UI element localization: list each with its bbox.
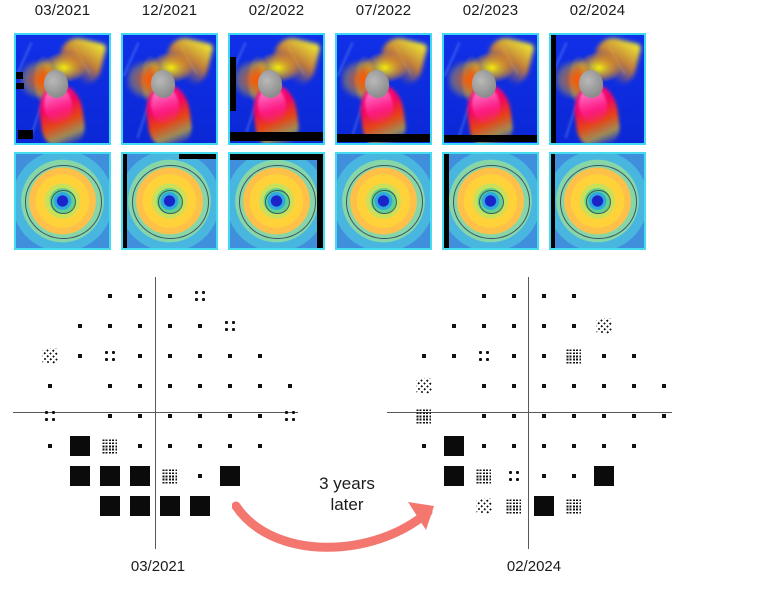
vf-vertical-axis <box>155 277 156 549</box>
vf-point-normal <box>482 324 486 328</box>
vf-point-normal <box>78 324 82 328</box>
vf-vertical-axis <box>528 277 529 549</box>
vf-point-normal <box>542 444 546 448</box>
rnfl-map-07-2022 <box>335 33 432 145</box>
vf-point-p5 <box>509 471 520 482</box>
vf-point-p2 <box>597 319 612 334</box>
vf-date-label-2021: 03/2021 <box>68 558 248 575</box>
vf-point-normal <box>198 384 202 388</box>
vf-point-p5 <box>195 291 206 302</box>
vf-point-p05 <box>70 436 90 456</box>
vf-point-p05 <box>190 496 210 516</box>
vf-point-normal <box>168 354 172 358</box>
vf-point-p1 <box>567 349 582 364</box>
vf-point-normal <box>602 414 606 418</box>
macular-thickness-map-row <box>0 152 768 250</box>
vf-point-p2 <box>43 349 58 364</box>
vf-point-normal <box>168 324 172 328</box>
vf-point-normal <box>168 444 172 448</box>
vf-point-normal <box>288 384 292 388</box>
vf-point-p2 <box>417 379 432 394</box>
vf-point-normal <box>542 384 546 388</box>
vf-point-normal <box>168 294 172 298</box>
vf-point-normal <box>108 384 112 388</box>
rnfl-map-12-2021 <box>121 33 218 145</box>
macular-map-02-2022 <box>228 152 325 250</box>
vf-point-p05 <box>160 496 180 516</box>
transition-caption-line1: 3 years <box>272 473 422 494</box>
vf-point-normal <box>422 444 426 448</box>
vf-point-normal <box>48 384 52 388</box>
vf-point-normal <box>602 444 606 448</box>
vf-point-normal <box>572 324 576 328</box>
timeline-date-02-2024: 02/2024 <box>549 2 646 19</box>
vf-point-normal <box>258 414 262 418</box>
vf-point-normal <box>542 294 546 298</box>
vf-point-normal <box>542 414 546 418</box>
vf-point-normal <box>452 324 456 328</box>
vf-point-normal <box>512 444 516 448</box>
vf-point-p5 <box>479 351 490 362</box>
rnfl-map-02-2024 <box>549 33 646 145</box>
rnfl-map-02-2023 <box>442 33 539 145</box>
vf-point-p05 <box>220 466 240 486</box>
vf-point-normal <box>108 294 112 298</box>
timeline-date-03-2021: 03/2021 <box>14 2 111 19</box>
vf-point-normal <box>138 384 142 388</box>
rnfl-map-03-2021 <box>14 33 111 145</box>
macular-map-02-2024 <box>549 152 646 250</box>
vf-point-normal <box>108 414 112 418</box>
vf-point-normal <box>228 384 232 388</box>
rnfl-map-02-2022 <box>228 33 325 145</box>
vf-point-p5 <box>105 351 116 362</box>
vf-point-normal <box>78 354 82 358</box>
vf-point-normal <box>168 384 172 388</box>
vf-point-normal <box>228 444 232 448</box>
vf-point-normal <box>138 414 142 418</box>
vf-point-p2 <box>477 499 492 514</box>
vf-point-p05 <box>70 466 90 486</box>
timeline-date-02-2022: 02/2022 <box>228 2 325 19</box>
vf-point-normal <box>512 294 516 298</box>
vf-point-normal <box>452 354 456 358</box>
vf-point-normal <box>138 294 142 298</box>
vf-point-normal <box>108 324 112 328</box>
vf-point-normal <box>512 414 516 418</box>
vf-point-normal <box>602 384 606 388</box>
vf-point-p05 <box>130 496 150 516</box>
vf-point-p1 <box>417 409 432 424</box>
vf-point-p05 <box>594 466 614 486</box>
vf-point-p05 <box>130 466 150 486</box>
vf-point-normal <box>482 294 486 298</box>
vf-point-normal <box>632 414 636 418</box>
vf-point-normal <box>572 414 576 418</box>
vf-point-p1 <box>103 439 118 454</box>
vf-point-normal <box>512 384 516 388</box>
vf-point-normal <box>632 354 636 358</box>
arrow-icon <box>232 498 472 560</box>
vf-point-normal <box>258 444 262 448</box>
vf-point-normal <box>228 354 232 358</box>
vf-point-normal <box>482 414 486 418</box>
vf-point-normal <box>198 474 202 478</box>
vf-point-normal <box>572 444 576 448</box>
vf-point-normal <box>48 444 52 448</box>
vf-point-normal <box>572 384 576 388</box>
vf-point-normal <box>632 384 636 388</box>
timeline-date-12-2021: 12/2021 <box>121 2 218 19</box>
timeline-date-02-2023: 02/2023 <box>442 2 539 19</box>
vf-point-normal <box>662 414 666 418</box>
vf-point-normal <box>138 444 142 448</box>
vf-point-normal <box>168 414 172 418</box>
vf-point-normal <box>512 354 516 358</box>
vf-point-normal <box>198 354 202 358</box>
progression-arrow <box>232 498 472 560</box>
vf-point-normal <box>572 294 576 298</box>
timeline-date-header: 03/202112/202102/202207/202202/202302/20… <box>0 2 768 26</box>
macular-map-03-2021 <box>14 152 111 250</box>
vf-point-p05 <box>444 436 464 456</box>
vf-point-p05 <box>444 466 464 486</box>
vf-point-p05 <box>534 496 554 516</box>
vf-point-normal <box>542 354 546 358</box>
vf-point-p1 <box>477 469 492 484</box>
vf-point-p1 <box>507 499 522 514</box>
vf-point-normal <box>258 384 262 388</box>
vf-point-p1 <box>567 499 582 514</box>
vf-point-p05 <box>100 466 120 486</box>
vf-point-normal <box>198 444 202 448</box>
macular-map-02-2023 <box>442 152 539 250</box>
vf-point-normal <box>602 354 606 358</box>
vf-point-normal <box>482 444 486 448</box>
vf-point-p1 <box>163 469 178 484</box>
vf-point-normal <box>138 354 142 358</box>
macular-map-07-2022 <box>335 152 432 250</box>
rnfl-thickness-map-row <box>0 33 768 145</box>
vf-point-p5 <box>45 411 56 422</box>
vf-point-normal <box>662 384 666 388</box>
vf-point-normal <box>258 354 262 358</box>
macular-map-12-2021 <box>121 152 218 250</box>
vf-point-p5 <box>285 411 296 422</box>
vf-point-normal <box>422 354 426 358</box>
vf-point-normal <box>512 324 516 328</box>
timeline-date-07-2022: 07/2022 <box>335 2 432 19</box>
vf-point-normal <box>542 324 546 328</box>
vf-point-normal <box>198 414 202 418</box>
vf-point-normal <box>198 324 202 328</box>
vf-point-normal <box>138 324 142 328</box>
vf-point-normal <box>228 414 232 418</box>
vf-point-p5 <box>225 321 236 332</box>
vf-date-label-2024: 02/2024 <box>444 558 624 575</box>
vf-point-normal <box>632 444 636 448</box>
vf-point-normal <box>482 384 486 388</box>
vf-point-p05 <box>100 496 120 516</box>
vf-point-normal <box>572 474 576 478</box>
vf-point-normal <box>542 474 546 478</box>
